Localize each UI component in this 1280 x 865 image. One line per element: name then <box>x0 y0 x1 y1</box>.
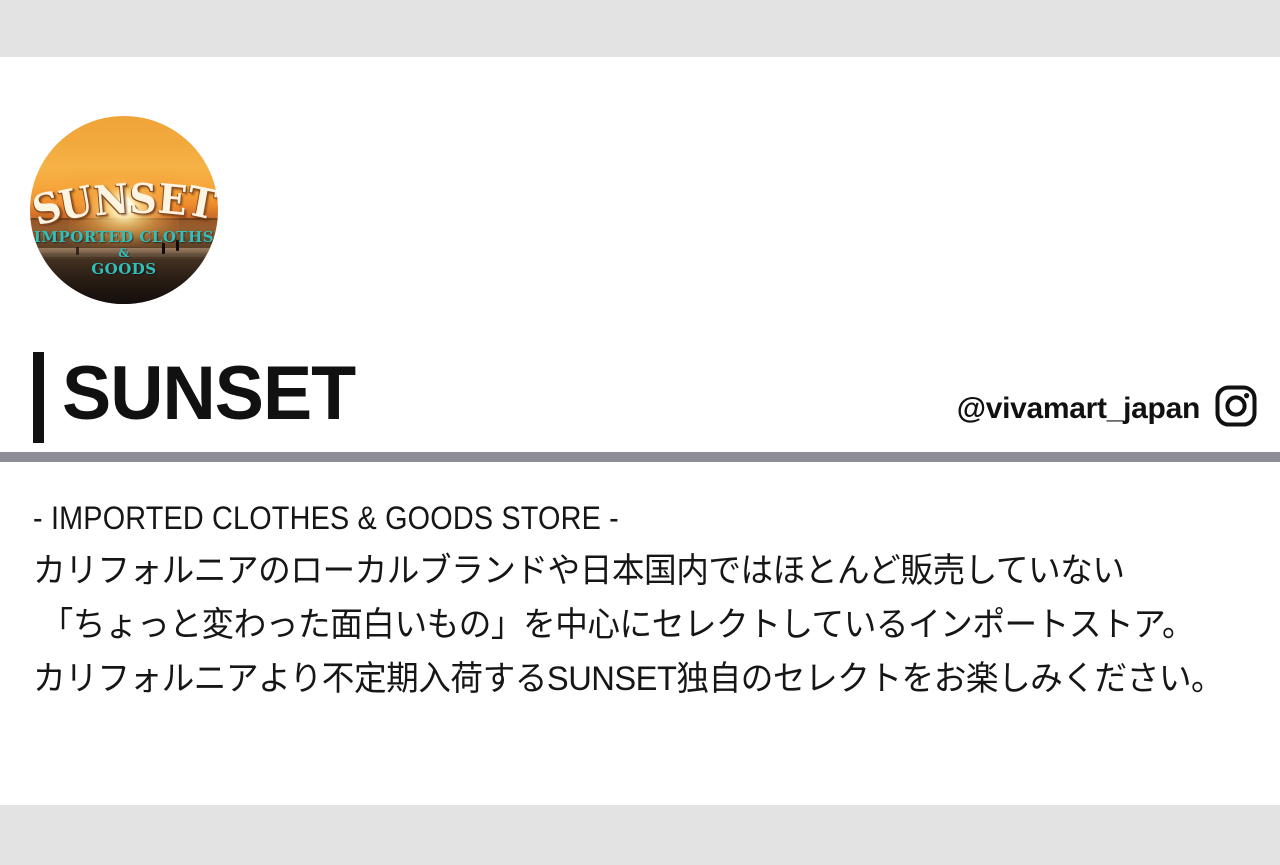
logo-subtitle-line-2: GOODS <box>30 260 218 278</box>
instagram-handle-group[interactable]: @vivamart_japan <box>957 384 1258 433</box>
page-title: SUNSET <box>62 346 355 442</box>
title-accent-bar <box>33 352 44 443</box>
instagram-icon[interactable] <box>1214 384 1258 433</box>
logo-subtitle-line-1: IMPORTED CLOTHS <box>30 228 218 246</box>
instagram-handle-text: @vivamart_japan <box>957 392 1200 426</box>
description-line-3: カリフォルニアより不定期入荷するSUNSET独自のセレクトをお楽しみください。 <box>33 652 1195 706</box>
description-line-2: 「ちょっと変わった面白いもの」を中心にセレクトしているインポートストア。 <box>33 598 1195 652</box>
header-row: SUNSET @vivamart_japan <box>0 340 1280 452</box>
page-root: SUNSET IMPORTED CLOTHS & GOODS SUNSET @v… <box>0 0 1280 865</box>
top-letterbox-band <box>0 0 1280 57</box>
description-block: - IMPORTED CLOTHES & GOODS STORE - カリフォル… <box>33 492 1243 706</box>
logo-brand-word: SUNSET <box>30 176 218 225</box>
section-divider <box>0 452 1280 462</box>
brand-logo: SUNSET IMPORTED CLOTHS & GOODS <box>30 116 218 304</box>
logo-subtitle-ampersand: & <box>30 246 218 260</box>
store-tagline: - IMPORTED CLOTHES & GOODS STORE - <box>33 492 1122 544</box>
sunset-logo-image: SUNSET IMPORTED CLOTHS & GOODS <box>30 116 218 304</box>
description-line-1: カリフォルニアのローカルブランドや日本国内ではほとんど販売していない <box>33 544 1195 598</box>
bottom-letterbox-band <box>0 805 1280 865</box>
